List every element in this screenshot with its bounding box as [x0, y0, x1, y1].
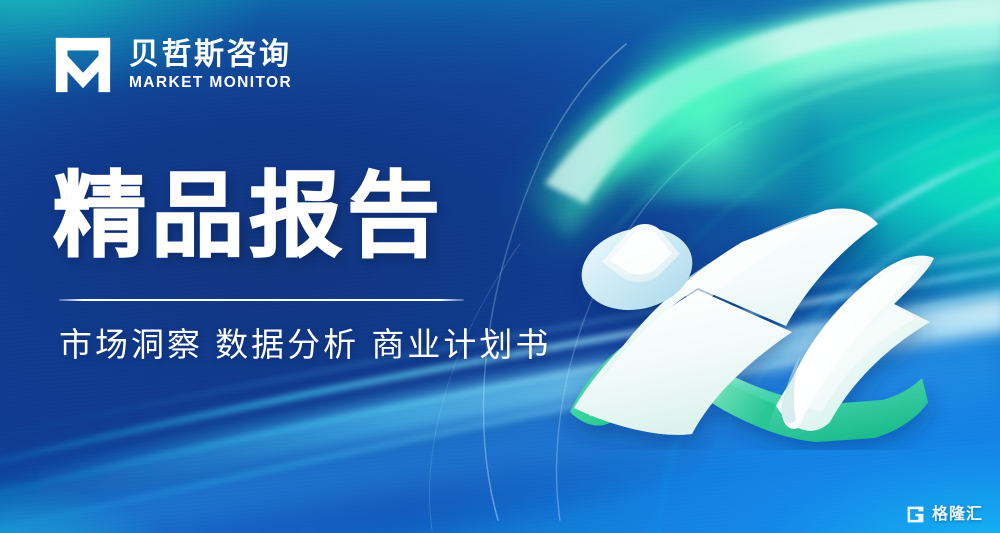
page-title: 精品报告 — [53, 168, 551, 266]
gelonghui-g-icon — [906, 505, 925, 524]
report-banner: 贝哲斯咨询 MARKET MONITOR 精品报告 市场洞察 数据分析 商业计划… — [0, 0, 1000, 533]
open-book-illustration — [530, 150, 950, 450]
brand-logo: 贝哲斯咨询 MARKET MONITOR — [52, 34, 292, 96]
brand-name-cn: 贝哲斯咨询 — [129, 39, 292, 71]
headline-divider — [59, 299, 464, 301]
headline-block: 精品报告 市场洞察 数据分析 商业计划书 — [53, 168, 551, 363]
m-bracket-logo-icon — [52, 34, 114, 96]
page-subtitle: 市场洞察 数据分析 商业计划书 — [59, 327, 551, 363]
brand-name-en: MARKET MONITOR — [129, 75, 292, 91]
watermark: 格隆汇 — [906, 505, 983, 524]
watermark-text: 格隆汇 — [932, 507, 983, 523]
brand-logo-text: 贝哲斯咨询 MARKET MONITOR — [129, 39, 292, 92]
